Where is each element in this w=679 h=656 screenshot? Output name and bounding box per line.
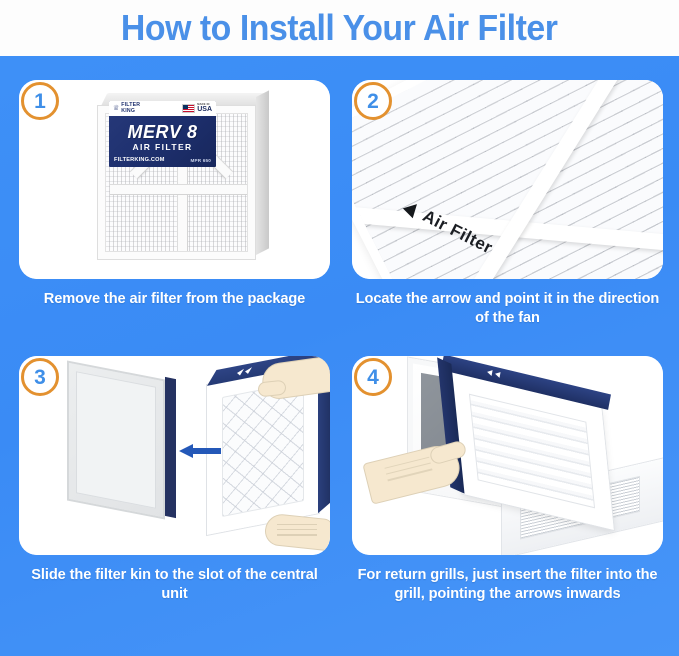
step-2-badge: 2 (354, 82, 392, 120)
step-1: ♕ FILTER KING (19, 80, 330, 309)
step-1-badge: 1 (21, 82, 59, 120)
step-3-caption: Slide the filter kin to the slot of the … (19, 566, 330, 605)
return-grill-insert-illustration (352, 356, 663, 555)
filter-corner-body (352, 80, 663, 279)
step-1-number: 1 (34, 91, 46, 112)
step-4-card: 4 (352, 356, 663, 555)
step-4-caption: For return grills, just insert the filte… (352, 566, 663, 605)
step-1-card: ♕ FILTER KING (19, 80, 330, 279)
filter-sliding-into-slot-illustration (19, 356, 330, 555)
step-4-number: 4 (367, 367, 379, 388)
grill-louvers (469, 394, 595, 509)
filter-king-logo: ♕ FILTER KING (113, 103, 140, 114)
infographic-root: How to Install Your Air Filter (0, 0, 679, 656)
finger-line-2 (277, 529, 317, 530)
filter-mesh (222, 381, 304, 517)
filter-corner-frame (352, 80, 663, 279)
brand-name: FILTER KING (121, 103, 140, 114)
arrow-head (179, 444, 193, 458)
steps-stage: ♕ FILTER KING (0, 56, 679, 656)
central-unit-slot (67, 360, 165, 519)
finger-line-1 (277, 524, 317, 525)
country-label: USA (197, 106, 212, 113)
step-3-number: 3 (34, 367, 46, 388)
step-3-badge: 3 (21, 358, 59, 396)
crown-icon: ♕ (113, 105, 119, 112)
usa-flag-icon (182, 104, 195, 113)
air-filter-product-photo: ♕ FILTER KING (19, 80, 330, 279)
product-label-header: ♕ FILTER KING (109, 101, 216, 116)
step-2: Air Filter 2 Locate the arrow and point … (352, 80, 663, 329)
filter-side-edge (256, 90, 269, 255)
step-4: 4 For return grills, just insert the fil… (352, 356, 663, 605)
return-grill-door (450, 372, 614, 530)
slot-dark-edge (165, 377, 176, 518)
step-4-badge: 4 (354, 358, 392, 396)
step-2-caption: Locate the arrow and point it in the dir… (352, 290, 663, 329)
filter-photo-body: ♕ FILTER KING (97, 93, 269, 261)
mpr-rating: MPR 650 (190, 158, 211, 163)
air-filter-corner-arrow-photo: Air Filter (352, 80, 663, 279)
product-type: AIR FILTER (109, 143, 216, 152)
step-2-card: Air Filter 2 (352, 80, 663, 279)
slot-opening (76, 371, 156, 509)
steps-grid: ♕ FILTER KING (0, 56, 679, 656)
step-3: 3 Slide the filter kin to the slot of th… (19, 356, 330, 605)
header-band: How to Install Your Air Filter (0, 0, 679, 56)
step-1-caption: Remove the air filter from the package (19, 290, 330, 309)
hand-lower-detail (277, 524, 317, 540)
finger-line-3 (277, 534, 317, 535)
insert-direction-arrow-icon (179, 444, 221, 458)
product-label-footer: FILTERKING.COM MPR 650 (114, 157, 211, 163)
arrow-shaft (191, 448, 221, 454)
merv-rating: MERV 8 (109, 123, 216, 141)
arrow-mark-1 (487, 369, 493, 376)
product-label: ♕ FILTER KING (109, 101, 216, 167)
website-url: FILTERKING.COM (114, 157, 165, 163)
step-2-number: 2 (367, 91, 379, 112)
made-in-usa-text: MADE IN USA (197, 104, 212, 114)
step-3-card: 3 (19, 356, 330, 555)
brand-line-2: KING (121, 108, 135, 114)
page-title: How to Install Your Air Filter (121, 7, 558, 49)
made-in-usa-badge: MADE IN USA (182, 104, 212, 114)
arrow-mark-2 (495, 371, 501, 378)
